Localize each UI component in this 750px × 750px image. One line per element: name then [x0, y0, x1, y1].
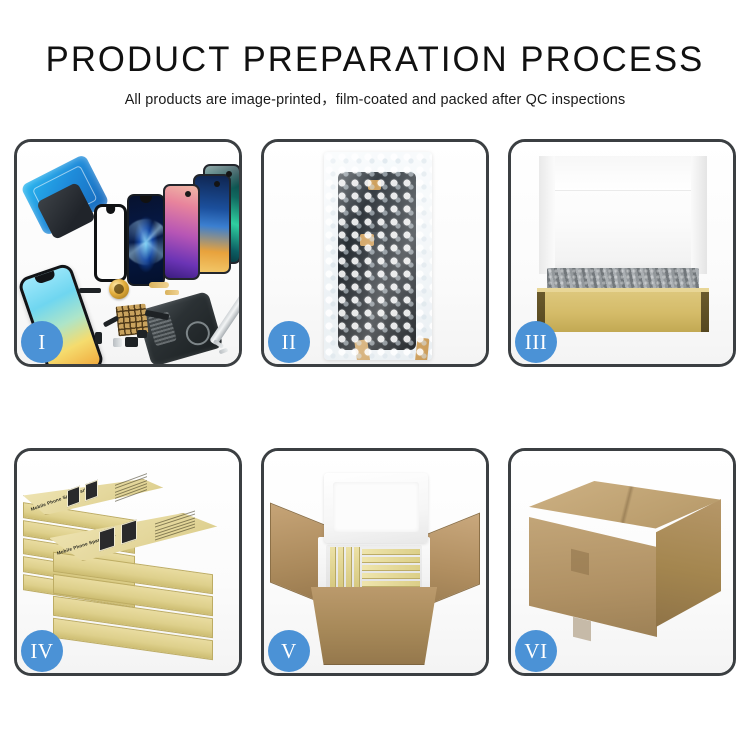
packed-boxes-group: [328, 547, 420, 589]
header: PRODUCT PREPARATION PROCESS All products…: [0, 0, 750, 109]
part-chip: [165, 290, 179, 295]
part-chip: [137, 330, 147, 338]
step-panel-4[interactable]: Mobile Phone Spare Parts Mobile Phone Sp…: [14, 448, 242, 676]
foam-lid-right-edge: [691, 156, 707, 274]
carton-face-front: [529, 517, 657, 637]
part-chip: [113, 338, 122, 347]
part-chip: [219, 348, 229, 355]
taptic-coil-graphic: [109, 279, 129, 299]
process-steps-grid: I II: [14, 139, 736, 676]
box-text-lines: [115, 473, 147, 504]
phone-housing-graphic: [136, 291, 223, 364]
step-badge-6: VI: [515, 630, 557, 672]
step-panel-5[interactable]: V: [261, 448, 489, 676]
part-chip: [79, 288, 101, 293]
step-badge-5: V: [268, 630, 310, 672]
foam-lid-left-edge: [539, 156, 555, 274]
step-panel-6[interactable]: VI: [508, 448, 736, 676]
step-badge-2: II: [268, 321, 310, 363]
phone-purple-graphic: [163, 184, 200, 280]
carton-tape-mark: [573, 617, 591, 641]
step-badge-4: IV: [21, 630, 63, 672]
step-badge-1: I: [21, 321, 63, 363]
carton-tape-mark: [571, 549, 589, 575]
foam-lid-graphic: [539, 156, 707, 274]
plastic-sheen: [324, 152, 432, 360]
part-chip: [95, 332, 102, 344]
part-chip: [125, 337, 138, 347]
kraft-box-base-graphic: [537, 292, 709, 332]
part-chip: [149, 282, 169, 288]
foam-lid-open-graphic: [324, 473, 428, 543]
screen-protector-graphic: [94, 204, 127, 282]
bubble-wrap-bag-graphic: [324, 152, 432, 360]
step-panel-2[interactable]: II: [261, 139, 489, 367]
page-subtitle: All products are image-printed，film-coat…: [0, 88, 750, 109]
product-preparation-infographic: PRODUCT PREPARATION PROCESS All products…: [0, 0, 750, 750]
step-panel-3[interactable]: III: [508, 139, 736, 367]
step-panel-1[interactable]: I: [14, 139, 242, 367]
step-badge-3: III: [515, 321, 557, 363]
page-title: PRODUCT PREPARATION PROCESS: [4, 42, 747, 79]
carton-body-graphic: [304, 587, 444, 665]
phone-blue-graphic: [127, 194, 165, 286]
